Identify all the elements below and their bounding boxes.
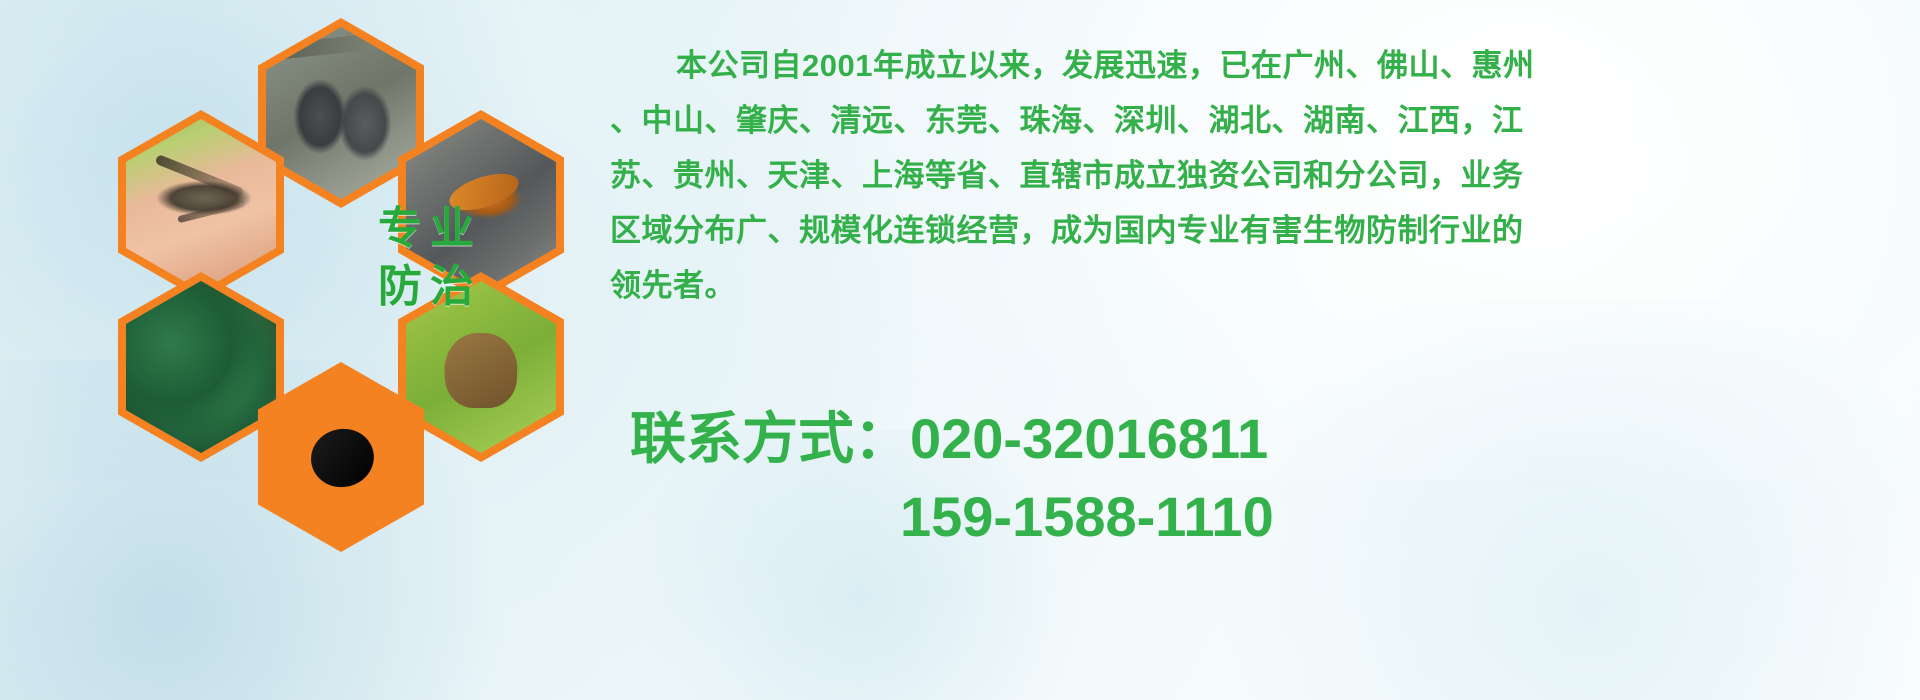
contact-block: 联系方式：020-32016811 159-1588-1110 (610, 400, 1920, 556)
rats-photo (266, 27, 416, 199)
mosquito-photo (126, 119, 276, 291)
intro-line-3: 苏、贵州、天津、上海等省、直辖市成立独资公司和分公司，业务 (610, 148, 1910, 203)
intro-line-5: 领先者。 (610, 258, 1910, 313)
intro-line-2: 、中山、肇庆、清远、东莞、珠海、深圳、湖北、湖南、江西，江 (610, 93, 1910, 148)
intro-paragraph: 本公司自2001年成立以来，发展迅速，已在广州、佛山、惠州 、中山、肇庆、清远、… (610, 38, 1910, 313)
promo-banner: 专业 防治 本公司自2001年成立以来，发展迅速，已在广州、佛山、惠州 、中山、… (0, 0, 1920, 700)
intro-line-4: 区域分布广、规模化连锁经营，成为国内专业有害生物防制行业的 (610, 203, 1910, 258)
contact-phone-secondary[interactable]: 159-1588-1110 (610, 478, 1920, 556)
ant-photo (266, 371, 416, 543)
hex-label-line-1: 专业 (345, 200, 515, 258)
contact-phone-primary[interactable]: 联系方式：020-32016811 (610, 400, 1920, 478)
intro-line-1: 本公司自2001年成立以来，发展迅速，已在广州、佛山、惠州 (610, 38, 1910, 93)
hexagon-photo-cluster: 专业 防治 (90, 0, 590, 570)
hex-center-label: 专业 防治 (345, 200, 515, 316)
hex-label-line-2: 防治 (345, 258, 515, 316)
flies-photo (126, 281, 276, 453)
